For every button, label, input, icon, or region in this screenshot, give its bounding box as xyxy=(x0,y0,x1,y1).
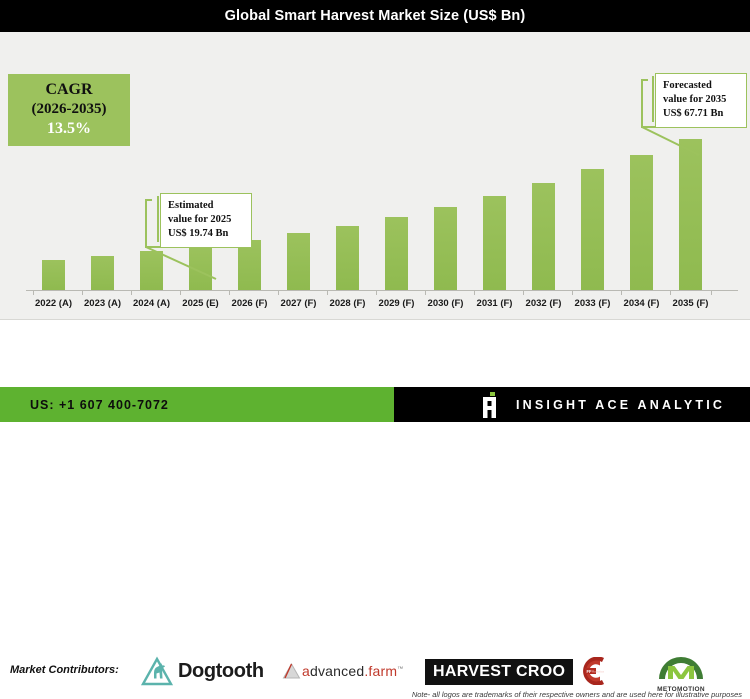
x-axis-label-1: 2023 (A) xyxy=(77,298,129,309)
title-bar: Global Smart Harvest Market Size (US$ Bn… xyxy=(0,0,750,32)
logo-dogtooth: Dogtooth xyxy=(140,656,264,686)
advanced-farm-tm: ™ xyxy=(397,666,403,672)
annotation-line-1: Estimated xyxy=(168,199,244,213)
x-axis-label-13: 2035 (F) xyxy=(665,298,717,309)
bar-2031f xyxy=(483,196,506,290)
logo-advanced-farm: advanced.farm™ xyxy=(282,662,403,680)
x-tick xyxy=(229,290,230,295)
chart-page: Global Smart Harvest Market Size (US$ Bn… xyxy=(0,0,750,422)
cagr-label: CAGR xyxy=(45,81,92,99)
chart-area: 2022 (A)2023 (A)2024 (A)2025 (E)2026 (F)… xyxy=(0,32,750,320)
annotation-estimated-2025: Estimated value for 2025 US$ 19.74 Bn xyxy=(160,193,252,248)
annotation-line-3: US$ 19.74 Bn xyxy=(168,227,244,241)
dogtooth-triangle-icon xyxy=(140,656,174,686)
x-axis-label-0: 2022 (A) xyxy=(28,298,80,309)
x-axis-label-8: 2030 (F) xyxy=(420,298,472,309)
bar-2029f xyxy=(385,217,408,290)
advanced-farm-wordmark: advanced.farm™ xyxy=(302,663,403,679)
x-axis-label-7: 2029 (F) xyxy=(371,298,423,309)
advanced-farm-dvanced: dvanced xyxy=(310,663,364,679)
trademark-note: Note- all logos are trademarks of their … xyxy=(412,690,742,699)
x-tick xyxy=(82,290,83,295)
x-axis-label-2: 2024 (A) xyxy=(126,298,178,309)
insight-ace-a-icon xyxy=(480,392,502,418)
annotation-forecast-2035: Forecasted value for 2035 US$ 67.71 Bn xyxy=(655,73,747,128)
bar-2028f xyxy=(336,226,359,290)
x-tick xyxy=(474,290,475,295)
x-tick xyxy=(670,290,671,295)
x-axis-label-11: 2033 (F) xyxy=(567,298,619,309)
x-axis-label-10: 2032 (F) xyxy=(518,298,570,309)
bar-2027f xyxy=(287,233,310,290)
logo-ff-robotics: FF Robotics xyxy=(570,657,622,685)
bar-2035f xyxy=(679,139,702,290)
annotation-line-3: US$ 67.71 Bn xyxy=(663,107,739,121)
contributors-label: Market Contributors: xyxy=(10,664,119,676)
x-tick xyxy=(425,290,426,295)
advanced-farm-dotfarm: .farm xyxy=(364,663,397,679)
bar-2033f xyxy=(581,169,604,290)
bar-2032f xyxy=(532,183,555,290)
harvest-croo-wordmark: HARVEST CROO xyxy=(433,663,565,681)
svg-text:Robotics: Robotics xyxy=(592,670,604,674)
x-axis-label-9: 2031 (F) xyxy=(469,298,521,309)
bar-2022a xyxy=(42,260,65,290)
metomotion-m-icon xyxy=(655,667,707,684)
cagr-badge: CAGR (2026-2035) 13.5% xyxy=(8,74,130,146)
x-tick xyxy=(711,290,712,295)
x-axis-label-6: 2028 (F) xyxy=(322,298,374,309)
x-tick xyxy=(278,290,279,295)
advanced-farm-a: a xyxy=(302,663,310,679)
ff-robotics-c-icon: FF Robotics xyxy=(570,657,622,685)
bar-2023a xyxy=(91,256,114,290)
annotation-line-2: value for 2025 xyxy=(168,213,244,227)
x-tick xyxy=(327,290,328,295)
footer-brand-text: INSIGHT ACE ANALYTIC xyxy=(516,398,725,412)
x-axis-label-5: 2027 (F) xyxy=(273,298,325,309)
footer-contact-band: US: +1 607 400-7072 xyxy=(0,387,394,422)
x-tick xyxy=(180,290,181,295)
logo-harvest-croo: HARVEST CROO xyxy=(425,659,573,685)
bar-2034f xyxy=(630,155,653,291)
dogtooth-wordmark: Dogtooth xyxy=(178,660,264,683)
bar-2024a xyxy=(140,251,163,290)
x-axis-label-4: 2026 (F) xyxy=(224,298,276,309)
cagr-period: (2026-2035) xyxy=(32,100,107,119)
x-tick xyxy=(572,290,573,295)
x-axis-label-12: 2034 (F) xyxy=(616,298,668,309)
bar-2030f xyxy=(434,207,457,290)
x-tick xyxy=(376,290,377,295)
annotation-line-2: value for 2035 xyxy=(663,93,739,107)
annotation-line-1: Forecasted xyxy=(663,79,739,93)
logo-metomotion: METOMOTION xyxy=(655,653,707,693)
x-tick xyxy=(33,290,34,295)
bar-2025e xyxy=(189,246,212,290)
page-title: Global Smart Harvest Market Size (US$ Bn… xyxy=(225,8,526,24)
contributors-strip: Market Contributors: Dogtooth advanced.f… xyxy=(0,320,750,387)
footer-brand: INSIGHT ACE ANALYTIC xyxy=(480,387,725,422)
x-tick xyxy=(621,290,622,295)
x-axis-line xyxy=(26,290,738,291)
footer-bar: US: +1 607 400-7072 INSIGHT ACE ANALYTIC xyxy=(0,387,750,422)
x-tick xyxy=(523,290,524,295)
advanced-farm-triangle-icon xyxy=(282,662,301,680)
x-tick xyxy=(131,290,132,295)
footer-phone: US: +1 607 400-7072 xyxy=(30,398,169,412)
cagr-value: 13.5% xyxy=(47,119,91,139)
x-axis-label-3: 2025 (E) xyxy=(175,298,227,309)
